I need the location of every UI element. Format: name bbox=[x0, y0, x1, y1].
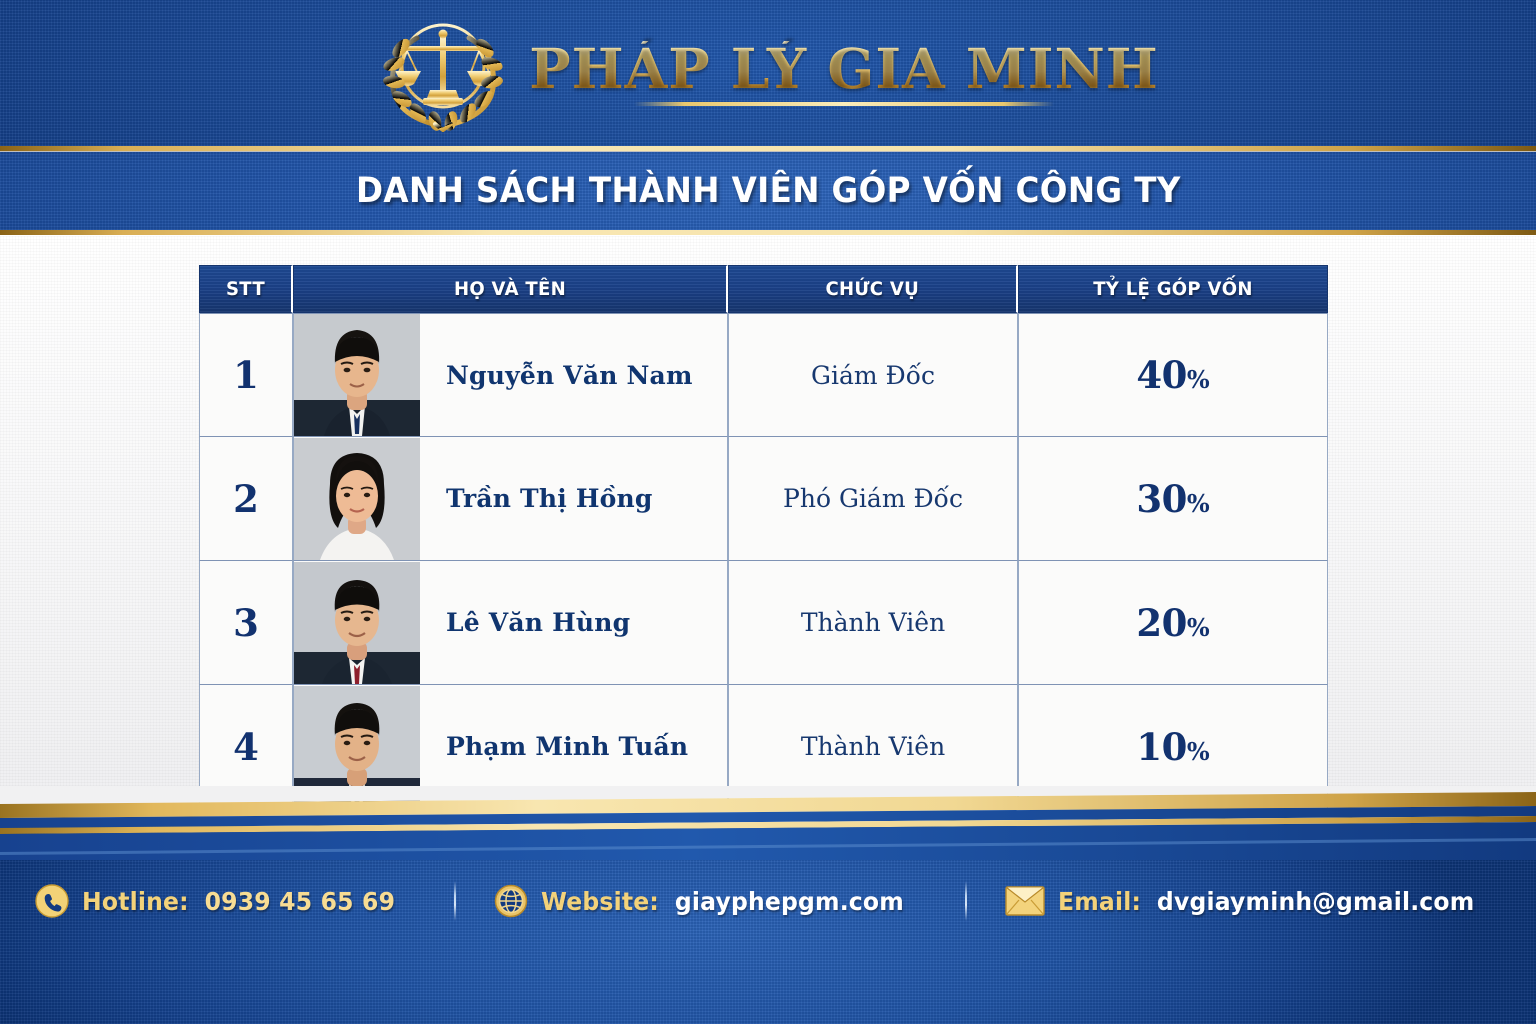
globe-icon bbox=[494, 884, 528, 918]
cell-role: Phó Giám Đốc bbox=[728, 437, 1018, 561]
ratio-percent: % bbox=[1187, 489, 1210, 518]
email-value: dvgiayminh@gmail.com bbox=[1157, 887, 1474, 916]
website-label: Website: bbox=[541, 887, 659, 916]
brand-text-block: PHÁP LÝ GIA MINH bbox=[529, 41, 1158, 106]
hotline-value: 0939 45 65 69 bbox=[205, 887, 396, 916]
table-row: 2 bbox=[199, 437, 1328, 561]
table-header-row: STT HỌ VÀ TÊN CHỨC VỤ TỶ LỆ GÓP VỐN bbox=[199, 265, 1328, 313]
hotline-label: Hotline: bbox=[82, 887, 189, 916]
ratio-number: 30 bbox=[1136, 477, 1187, 521]
member-photo bbox=[294, 438, 420, 560]
ratio-percent: % bbox=[1187, 737, 1210, 766]
brand-name: PHÁP LÝ GIA MINH bbox=[529, 41, 1158, 96]
column-header-role-label: CHỨC VỤ bbox=[826, 278, 920, 300]
separator-1 bbox=[454, 881, 456, 921]
email-text: Email: dvgiayminh@gmail.com bbox=[1058, 887, 1474, 916]
header-band: PHÁP LÝ GIA MINH bbox=[0, 0, 1536, 146]
members-table-wrapper: STT HỌ VÀ TÊN CHỨC VỤ TỶ LỆ GÓP VỐN 1 bbox=[199, 265, 1328, 809]
column-header-role: CHỨC VỤ bbox=[728, 265, 1018, 313]
hotline-text: Hotline: 0939 45 65 69 bbox=[82, 887, 395, 916]
page-title: DANH SÁCH THÀNH VIÊN GÓP VỐN CÔNG TY bbox=[356, 171, 1181, 211]
cell-ratio: 40% bbox=[1018, 313, 1328, 437]
contact-website[interactable]: Website: giayphepgm.com bbox=[494, 884, 927, 918]
table-header: STT HỌ VÀ TÊN CHỨC VỤ TỶ LỆ GÓP VỐN bbox=[199, 265, 1328, 313]
contact-bar: Hotline: 0939 45 65 69 bbox=[0, 881, 1536, 921]
gold-rule-below-title bbox=[0, 230, 1536, 235]
cell-ratio: 30% bbox=[1018, 437, 1328, 561]
member-name: Lê Văn Hùng bbox=[420, 608, 630, 637]
website-value: giayphepgm.com bbox=[674, 887, 903, 916]
cell-name: Lê Văn Hùng bbox=[293, 561, 728, 685]
member-name: Trần Thị Hồng bbox=[420, 484, 653, 513]
email-label: Email: bbox=[1058, 887, 1141, 916]
member-name: Nguyễn Văn Nam bbox=[420, 361, 693, 390]
contact-email[interactable]: Email: dvgiayminh@gmail.com bbox=[1005, 886, 1501, 916]
ratio-number: 40 bbox=[1136, 353, 1187, 397]
website-text: Website: giayphepgm.com bbox=[541, 887, 904, 916]
cell-stt: 2 bbox=[199, 437, 293, 561]
gold-divider-bands bbox=[0, 786, 1536, 860]
cell-role: Giám Đốc bbox=[728, 313, 1018, 437]
cell-name: Nguyễn Văn Nam bbox=[293, 313, 728, 437]
contact-hotline[interactable]: Hotline: 0939 45 65 69 bbox=[35, 884, 415, 918]
column-header-name: HỌ VÀ TÊN bbox=[293, 265, 728, 313]
column-header-stt: STT bbox=[199, 265, 293, 313]
table-row: 1 bbox=[199, 313, 1328, 437]
members-table: STT HỌ VÀ TÊN CHỨC VỤ TỶ LỆ GÓP VỐN 1 bbox=[199, 265, 1328, 809]
column-header-ratio-label: TỶ LỆ GÓP VỐN bbox=[1093, 278, 1253, 300]
scales-of-justice-laurel-icon bbox=[377, 14, 509, 132]
table-row: 3 bbox=[199, 561, 1328, 685]
column-header-stt-label: STT bbox=[226, 278, 265, 300]
ratio-number: 20 bbox=[1136, 601, 1187, 645]
cell-stt: 1 bbox=[199, 313, 293, 437]
brand-lockup: PHÁP LÝ GIA MINH bbox=[0, 0, 1536, 146]
member-photo bbox=[294, 314, 420, 436]
table-body: 1 bbox=[199, 313, 1328, 809]
cell-stt: 3 bbox=[199, 561, 293, 685]
ratio-percent: % bbox=[1187, 613, 1210, 642]
phone-icon bbox=[35, 884, 69, 918]
cell-role: Thành Viên bbox=[728, 561, 1018, 685]
poster-canvas: PHÁP LÝ GIA MINH DANH SÁCH THÀNH VIÊN GÓ… bbox=[0, 0, 1536, 1024]
brand-underline bbox=[634, 102, 1054, 106]
ratio-number: 10 bbox=[1136, 725, 1187, 769]
separator-2 bbox=[965, 881, 967, 921]
member-name: Phạm Minh Tuấn bbox=[420, 732, 688, 761]
cell-name: Trần Thị Hồng bbox=[293, 437, 728, 561]
envelope-icon bbox=[1005, 886, 1045, 916]
column-header-name-label: HỌ VÀ TÊN bbox=[454, 278, 566, 300]
ratio-percent: % bbox=[1187, 365, 1210, 394]
title-banner: DANH SÁCH THÀNH VIÊN GÓP VỐN CÔNG TY bbox=[0, 152, 1536, 230]
member-photo bbox=[294, 562, 420, 684]
divider-svg bbox=[0, 786, 1536, 860]
column-header-ratio: TỶ LỆ GÓP VỐN bbox=[1018, 265, 1328, 313]
cell-ratio: 20% bbox=[1018, 561, 1328, 685]
